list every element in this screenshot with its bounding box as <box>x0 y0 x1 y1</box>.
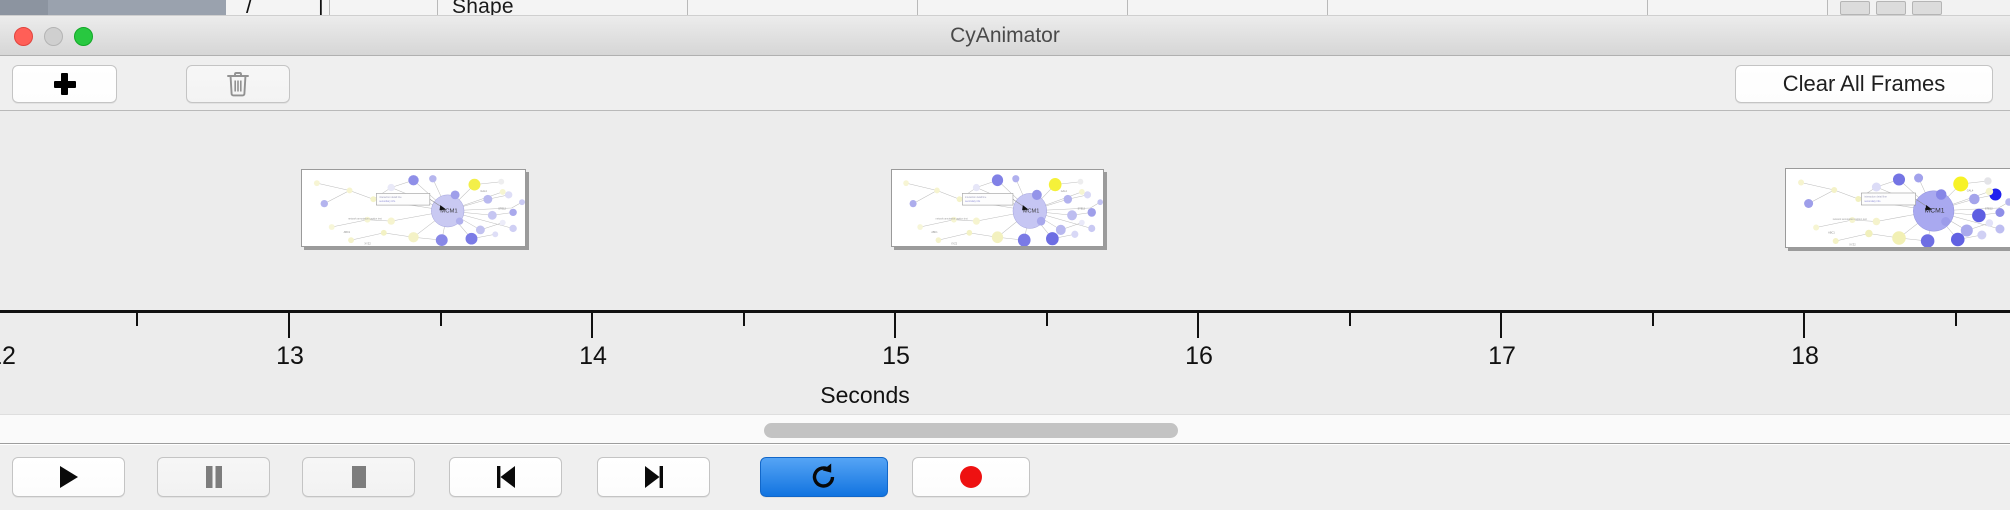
window-title: CyAnimator <box>0 16 2010 56</box>
stop-button[interactable] <box>302 457 415 497</box>
svg-text:interaction detail line: interaction detail line <box>1864 196 1887 199</box>
ruler-major-tick <box>288 313 290 338</box>
ruler-minor-tick <box>440 313 442 326</box>
loop-icon <box>810 462 838 492</box>
svg-text:secondary info: secondary info <box>379 200 396 203</box>
ruler-minor-tick <box>1349 313 1351 326</box>
ruler-minor-tick <box>743 313 745 326</box>
svg-text:network annotation caption tex: network annotation caption text <box>936 218 968 221</box>
ruler-tick-label: 17 <box>1488 342 1516 371</box>
svg-text:network annotation caption tex: network annotation caption text <box>348 218 382 221</box>
svg-text:STE12: STE12 <box>498 207 506 210</box>
svg-text:GAL4: GAL4 <box>1967 189 1974 193</box>
svg-text:ABC1: ABC1 <box>344 231 351 234</box>
ruler-major-tick <box>1803 313 1805 338</box>
background-window-strip: / | Shape <box>0 0 2010 16</box>
ruler-major-tick <box>1197 313 1199 338</box>
record-icon <box>958 464 984 490</box>
title-bar: CyAnimator <box>0 16 2010 56</box>
clear-all-frames-label: Clear All Frames <box>1783 71 1946 97</box>
svg-text:GAL4: GAL4 <box>1061 190 1068 193</box>
ruler-axis-line <box>0 310 2010 313</box>
network-preview: MCM1 ABC1XYZ2 GAL4STE12 interaction deta… <box>1786 169 2010 247</box>
ruler-major-tick <box>894 313 896 338</box>
trash-icon <box>226 71 250 97</box>
play-button[interactable] <box>12 457 125 497</box>
loop-button[interactable] <box>760 457 888 497</box>
pause-button[interactable] <box>157 457 270 497</box>
svg-text:STE12: STE12 <box>1078 207 1086 210</box>
timeline-scrollbar[interactable] <box>0 414 2010 444</box>
ruler-tick-label: 12 <box>0 342 16 371</box>
ruler-minor-tick <box>1652 313 1654 326</box>
svg-text:XYZ2: XYZ2 <box>951 243 958 246</box>
svg-text:XYZ2: XYZ2 <box>1849 243 1856 247</box>
delete-frame-button[interactable] <box>186 65 290 103</box>
skip-end-icon <box>641 463 667 491</box>
network-preview: MCM1 ABC1XYZ2 GAL4STE12 interaction deta… <box>302 170 525 246</box>
ruler-tick-label: 18 <box>1791 342 1819 371</box>
network-preview: MCM1 ABC1XYZ2 GAL4STE12 interaction deta… <box>892 170 1103 246</box>
next-frame-button[interactable] <box>597 457 710 497</box>
plus-icon <box>54 73 76 95</box>
ruler-minor-tick <box>136 313 138 326</box>
ruler-tick-label: 13 <box>276 342 304 371</box>
ruler-tick-label: 16 <box>1185 342 1213 371</box>
ruler-minor-tick <box>1955 313 1957 326</box>
playback-controls: Animation Speed: <box>0 445 2010 510</box>
keyframe-thumbnail[interactable]: MCM1 ABC1XYZ2 GAL4STE12 interaction deta… <box>891 169 1104 247</box>
background-window-label: Shape <box>452 0 514 16</box>
pause-icon <box>203 464 225 490</box>
ruler-axis-title: Seconds <box>0 382 2010 409</box>
svg-text:interaction detail line: interaction detail line <box>379 196 402 199</box>
ruler-minor-tick <box>1046 313 1048 326</box>
prev-frame-button[interactable] <box>449 457 562 497</box>
clear-all-frames-button[interactable]: Clear All Frames <box>1735 65 1993 103</box>
play-icon <box>56 463 82 491</box>
svg-text:secondary info: secondary info <box>1864 200 1881 203</box>
keyframe-thumbnail[interactable]: MCM1 ABC1XYZ2 GAL4STE12 interaction deta… <box>301 169 526 247</box>
ruler-axis-title-text: Seconds <box>820 382 910 408</box>
record-button[interactable] <box>912 457 1030 497</box>
ruler-major-tick <box>1500 313 1502 338</box>
svg-text:interaction detail line: interaction detail line <box>965 196 987 199</box>
ruler-tick-label: 14 <box>579 342 607 371</box>
svg-text:XYZ2: XYZ2 <box>364 243 371 246</box>
svg-text:network annotation caption tex: network annotation caption text <box>1833 218 1868 221</box>
ruler-major-tick <box>591 313 593 338</box>
timeline-ruler[interactable]: 12 13 14 15 16 17 18 Seconds <box>0 310 2010 414</box>
cyanimator-window: / | Shape CyAnimator <box>0 0 2010 510</box>
svg-text:ABC1: ABC1 <box>1828 231 1835 235</box>
skip-start-icon <box>493 463 519 491</box>
timeline-frames-area[interactable]: MCM1 ABC1XYZ2 GAL4STE12 interaction deta… <box>0 111 2010 310</box>
add-frame-button[interactable] <box>12 65 117 103</box>
svg-text:ABC1: ABC1 <box>931 231 938 234</box>
toolbar: Clear All Frames <box>0 56 2010 111</box>
scrollbar-thumb[interactable] <box>764 423 1178 438</box>
ruler-tick-label: 15 <box>882 342 910 371</box>
stop-icon <box>348 464 370 490</box>
keyframe-thumbnail[interactable]: MCM1 ABC1XYZ2 GAL4STE12 interaction deta… <box>1785 168 2010 248</box>
svg-text:STE12: STE12 <box>1985 207 1993 211</box>
svg-text:secondary info: secondary info <box>965 200 981 203</box>
svg-text:GAL4: GAL4 <box>480 190 487 193</box>
